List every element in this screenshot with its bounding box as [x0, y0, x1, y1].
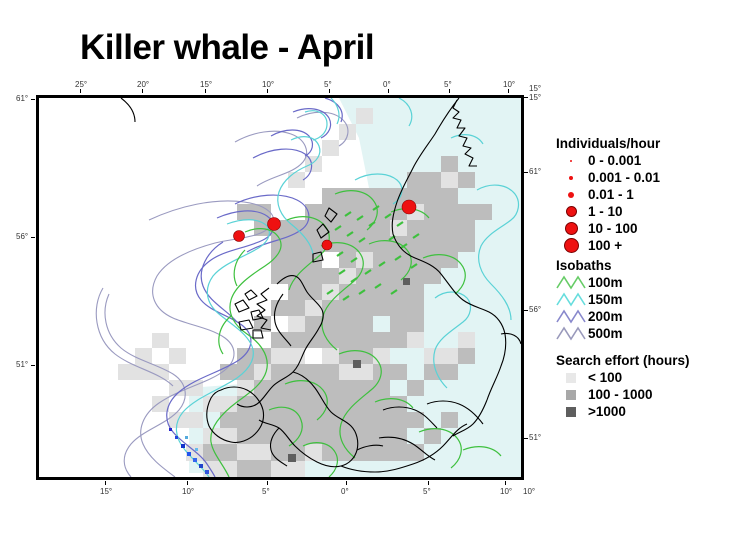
- axis-left-label: 51°: [16, 360, 28, 369]
- legend-item[interactable]: 500m: [554, 325, 750, 342]
- axis-tick: [187, 481, 188, 485]
- axis-tick: [31, 99, 35, 100]
- legend-individuals-title: Individuals/hour: [556, 136, 750, 151]
- sighting-dot[interactable]: [268, 218, 281, 231]
- axis-tick: [31, 237, 35, 238]
- axis-tick: [428, 481, 429, 485]
- legend-item-label: 100 +: [588, 238, 622, 253]
- axis-tick: [267, 89, 268, 93]
- axis-right-label: 51°: [529, 433, 541, 442]
- effort-swatch-icon: [554, 390, 588, 400]
- legend-item[interactable]: < 100: [554, 369, 750, 386]
- legend-item-label: 0 - 0.001: [588, 153, 641, 168]
- axis-tick: [505, 481, 506, 485]
- axis-right-label: 15°: [529, 84, 541, 93]
- legend-item[interactable]: 100m: [554, 274, 750, 291]
- legend-item[interactable]: 150m: [554, 291, 750, 308]
- legend-item-label: 0.01 - 1: [588, 187, 634, 202]
- legend-item-label: 200m: [588, 309, 623, 324]
- legend-item[interactable]: 200m: [554, 308, 750, 325]
- legend-item[interactable]: >1000: [554, 403, 750, 420]
- legend-item[interactable]: 0 - 0.001: [554, 152, 750, 169]
- isobath-line-icon: [554, 275, 588, 290]
- axis-left-label: 61°: [16, 94, 28, 103]
- sighting-dot-icon: [554, 206, 588, 217]
- axis-tick: [524, 97, 528, 98]
- axis-tick: [524, 310, 528, 311]
- axis-tick: [31, 365, 35, 366]
- sighting-dot-icon: [554, 192, 588, 198]
- page-title: Killer whale - April: [80, 28, 460, 68]
- isobath-line-icon: [554, 309, 588, 324]
- axis-tick: [142, 89, 143, 93]
- isobath-line-icon: [554, 292, 588, 307]
- legend-item-label: 0.001 - 0.01: [588, 170, 660, 185]
- axis-bottom-label: 10°: [500, 487, 512, 496]
- legend-isobaths: Isobaths 100m 150m 200m 500m: [554, 258, 750, 342]
- sighting-dot[interactable]: [234, 231, 245, 242]
- effort-swatch-icon: [554, 407, 588, 417]
- axis-right-label: 61°: [529, 167, 541, 176]
- axis-tick: [508, 89, 509, 93]
- legend-item[interactable]: 100 +: [554, 237, 750, 254]
- legend-item[interactable]: 0.001 - 0.01: [554, 169, 750, 186]
- axis-top-label: 25°: [75, 80, 87, 89]
- legend-item-label: 100 - 1000: [588, 387, 653, 402]
- axis-top-label: 15°: [200, 80, 212, 89]
- legend-item[interactable]: 10 - 100: [554, 220, 750, 237]
- legend-item-label: 10 - 100: [588, 221, 638, 236]
- axis-top-label: 10°: [262, 80, 274, 89]
- sighting-dot-icon: [554, 238, 588, 253]
- legend-isobaths-title: Isobaths: [556, 258, 750, 273]
- legend-item[interactable]: 100 - 1000: [554, 386, 750, 403]
- axis-top-label: 5°: [324, 80, 332, 89]
- sighting-dot-icon: [554, 160, 588, 162]
- axis-top-label: 0°: [383, 80, 391, 89]
- axis-bottom-label: 15°: [100, 487, 112, 496]
- legend-item-label: >1000: [588, 404, 626, 419]
- axis-corner-label: 10°: [523, 487, 535, 496]
- axis-tick: [205, 89, 206, 93]
- map-frame[interactable]: [36, 95, 524, 480]
- legend-individuals: Individuals/hour 0 - 0.001 0.001 - 0.01 …: [554, 136, 750, 254]
- legend-item-label: 150m: [588, 292, 623, 307]
- axis-top-label: 5°: [444, 80, 452, 89]
- axis-tick: [267, 481, 268, 485]
- axis-right-label: 15°: [529, 93, 541, 102]
- axis-tick: [449, 89, 450, 93]
- legend-item-label: < 100: [588, 370, 622, 385]
- legend-item-label: 100m: [588, 275, 623, 290]
- map-canvas[interactable]: [39, 98, 521, 477]
- axis-tick: [524, 438, 528, 439]
- axis-top-label: 20°: [137, 80, 149, 89]
- legend-item[interactable]: 1 - 10: [554, 203, 750, 220]
- sighting-dot-icon: [554, 176, 588, 180]
- sighting-dot-icon: [554, 222, 588, 235]
- axis-tick: [346, 481, 347, 485]
- axis-bottom-label: 5°: [262, 487, 270, 496]
- axis-tick: [80, 89, 81, 93]
- axis-tick: [524, 172, 528, 173]
- axis-top-label: 10°: [503, 80, 515, 89]
- axis-bottom-label: 10°: [182, 487, 194, 496]
- legend-item-label: 1 - 10: [588, 204, 623, 219]
- axis-tick: [105, 481, 106, 485]
- axis-right-label: 56°: [529, 305, 541, 314]
- axis-tick: [329, 89, 330, 93]
- sighting-dot[interactable]: [402, 200, 416, 214]
- axis-tick: [388, 89, 389, 93]
- legend-item-label: 500m: [588, 326, 623, 341]
- legend-effort-title: Search effort (hours): [556, 353, 750, 368]
- effort-swatch-icon: [554, 373, 588, 383]
- axis-left-label: 56°: [16, 232, 28, 241]
- legend-item[interactable]: 0.01 - 1: [554, 186, 750, 203]
- isobath-line-icon: [554, 326, 588, 341]
- legend-panel: Individuals/hour 0 - 0.001 0.001 - 0.01 …: [554, 136, 750, 424]
- sighting-dot[interactable]: [322, 240, 332, 250]
- axis-bottom-label: 0°: [341, 487, 349, 496]
- legend-search-effort: Search effort (hours) < 100 100 - 1000 >…: [554, 353, 750, 420]
- axis-bottom-label: 5°: [423, 487, 431, 496]
